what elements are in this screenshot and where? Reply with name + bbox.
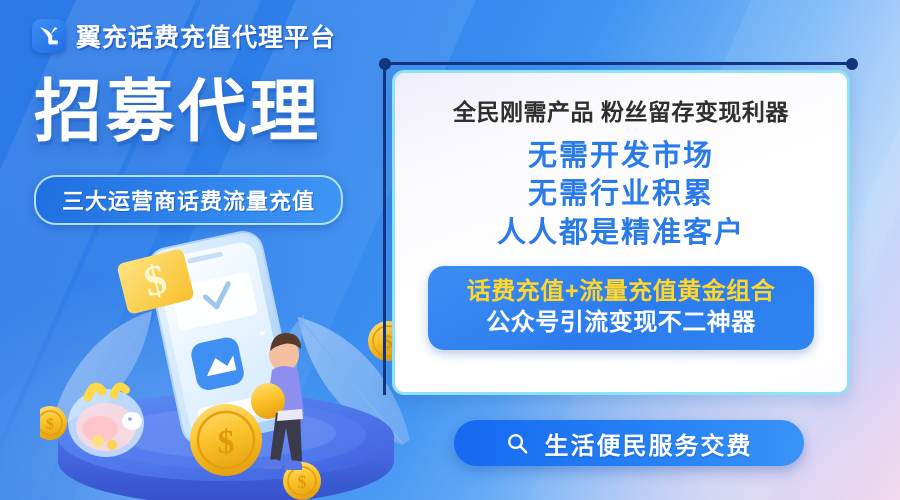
brand-header: 翼充话费充值代理平台 (32, 18, 336, 54)
highlight-box: 话费充值+流量充值黄金组合 公众号引流变现不二神器 (428, 266, 814, 350)
benefits-card: 全民刚需产品 粉丝留存变现利器 无需开发市场 无需行业积累 人人都是精准客户 话… (392, 70, 850, 395)
page-title: 招募代理 (34, 78, 322, 146)
benefit-1: 无需开发市场 (528, 137, 714, 175)
promo-banner: 翼充话费充值代理平台 招募代理 三大运营商话费流量充值 (0, 0, 900, 500)
subtitle-pill: 三大运营商话费流量充值 (34, 175, 343, 225)
cta-label: 生活便民服务交费 (545, 426, 753, 461)
svg-text:$: $ (298, 472, 307, 492)
sparkle (259, 330, 264, 335)
benefit-3: 人人都是精准客户 (497, 214, 745, 252)
svg-text:$: $ (46, 416, 54, 433)
cta-button[interactable]: 生活便民服务交费 (454, 420, 804, 466)
frame-dot-right (846, 58, 858, 70)
card-tagline: 全民刚需产品 粉丝留存变现利器 (453, 93, 789, 127)
brand-title: 翼充话费充值代理平台 (76, 18, 336, 54)
highlight-line-yellow: 话费充值+流量充值黄金组合 (428, 276, 814, 307)
mobile-recharge-3d-illustration: $ $ $ (40, 215, 420, 500)
svg-text:$: $ (218, 424, 235, 461)
subtitle-pill-label: 三大运营商话费流量充值 (62, 184, 315, 216)
search-icon (506, 432, 529, 455)
wing-y-glyph-icon (36, 22, 62, 48)
highlight-line-white: 公众号引流变现不二神器 (428, 307, 814, 338)
wing-y-logo-icon (32, 19, 66, 53)
frame-dot-left (379, 58, 391, 70)
benefit-2: 无需行业积累 (528, 175, 714, 213)
